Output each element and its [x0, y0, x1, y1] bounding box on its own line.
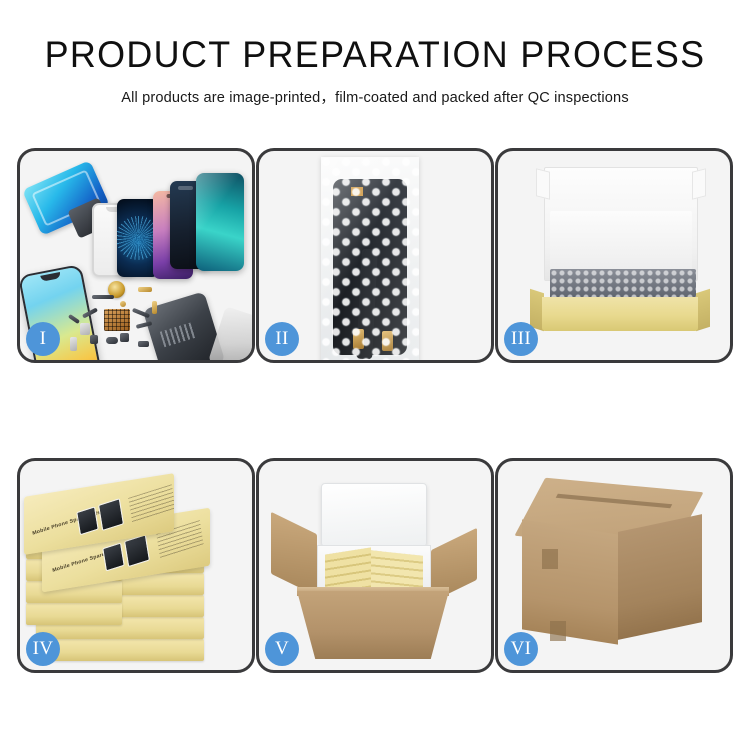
process-step-2[interactable]: II [256, 148, 494, 363]
carton-front-face-icon [522, 519, 618, 644]
process-step-4[interactable]: Mobile Phone Spare Parts Mobile Phone Sp… [17, 458, 255, 673]
process-step-5[interactable]: V [256, 458, 494, 673]
carton-front-icon [297, 591, 449, 659]
step-badge-4: IV [26, 632, 60, 666]
carton-side-icon [618, 514, 702, 640]
foam-cooler-lid-icon [321, 483, 427, 547]
carton-tape-upper-icon [542, 549, 558, 569]
carton-tape-lower-icon [550, 621, 566, 641]
step-badge-1: I [26, 322, 60, 356]
step-badge-3: III [504, 322, 538, 356]
foam-lining-icon [550, 211, 692, 273]
bubble-wrap-bag-icon [321, 157, 419, 360]
page-subtitle: All products are image-printed，film-coat… [0, 86, 750, 107]
step-badge-2: II [265, 322, 299, 356]
page-title: PRODUCT PREPARATION PROCESS [11, 36, 739, 75]
page-header: PRODUCT PREPARATION PROCESS All products… [0, 0, 750, 107]
process-step-1[interactable]: I [17, 148, 255, 363]
bubble-packed-items-icon [550, 269, 696, 299]
box-right-panel-icon [696, 289, 710, 332]
plastic-sheen-icon [321, 157, 419, 360]
step-badge-6: VI [504, 632, 538, 666]
step-badge-5: V [265, 632, 299, 666]
process-step-grid: I II III [17, 148, 733, 673]
kraft-box-front-icon [542, 297, 698, 331]
process-step-3[interactable]: III [495, 148, 733, 363]
process-step-6[interactable]: VI [495, 458, 733, 673]
carton-flap-left-icon [271, 512, 317, 596]
